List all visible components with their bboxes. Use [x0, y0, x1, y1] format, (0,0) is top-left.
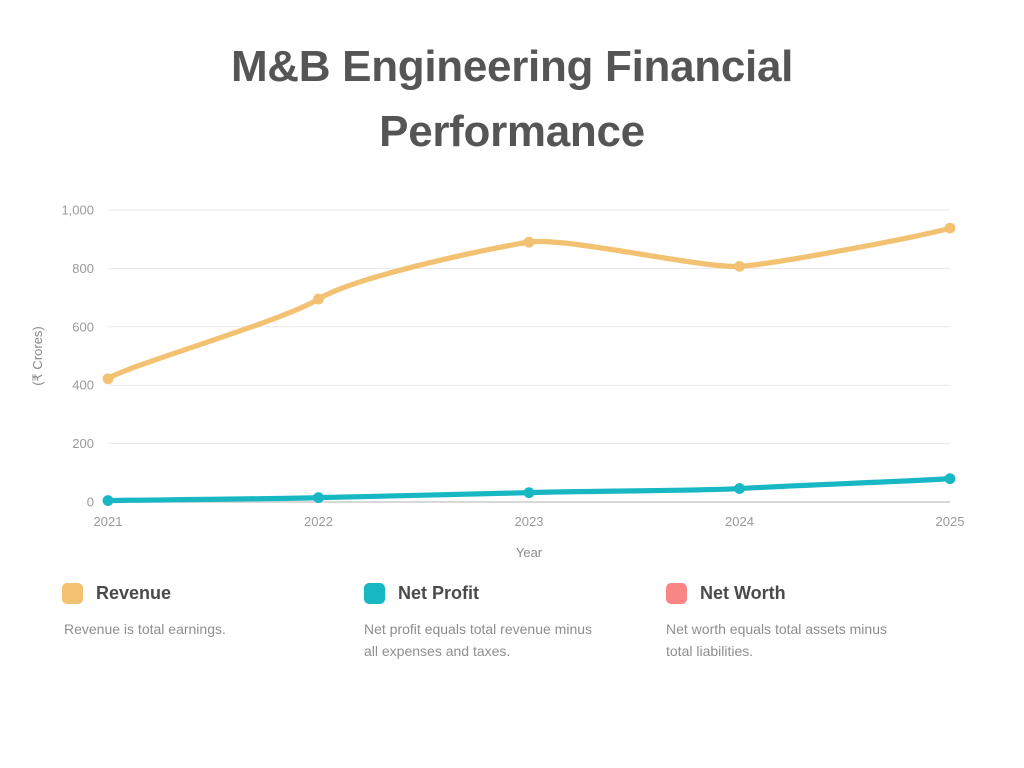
legend-item-header: Net Profit [364, 580, 646, 606]
x-tick-label: 2024 [725, 514, 754, 529]
x-axis-title: Year [516, 545, 543, 560]
x-tick-label: 2023 [515, 514, 544, 529]
y-tick-label: 600 [72, 319, 94, 334]
legend-description-net-profit: Net profit equals total revenue minus al… [364, 619, 596, 662]
legend-swatch-net-worth-icon [666, 583, 687, 604]
legend-description-net-worth: Net worth equals total assets minus tota… [666, 619, 898, 662]
legend-label-revenue: Revenue [96, 583, 171, 604]
legend-item-header: Revenue [62, 580, 344, 606]
data-point-marker[interactable] [734, 483, 745, 494]
series-line [108, 228, 950, 379]
legend-item-header: Net Worth [666, 580, 948, 606]
legend-swatch-net-profit-icon [364, 583, 385, 604]
data-point-marker[interactable] [103, 495, 114, 506]
chart-page: M&B Engineering Financial Performance 02… [0, 0, 1024, 768]
legend-item-revenue[interactable]: Revenue Revenue is total earnings. [62, 580, 364, 690]
x-axis-tick-labels: 20212022202320242025 [94, 514, 965, 529]
data-series-lines [108, 228, 950, 500]
data-point-marker[interactable] [945, 473, 956, 484]
y-tick-label: 200 [72, 436, 94, 451]
chart-legend: Revenue Revenue is total earnings. Net P… [0, 580, 1024, 690]
data-point-marker[interactable] [313, 294, 324, 305]
legend-item-net-profit[interactable]: Net Profit Net profit equals total reven… [364, 580, 666, 690]
y-axis-tick-labels: 02004006008001,000 [61, 203, 94, 510]
data-point-marker[interactable] [734, 261, 745, 272]
y-tick-label: 400 [72, 378, 94, 393]
data-point-marker[interactable] [313, 492, 324, 503]
x-tick-label: 2022 [304, 514, 333, 529]
y-tick-label: 0 [87, 495, 94, 510]
legend-label-net-profit: Net Profit [398, 583, 479, 604]
data-point-marker[interactable] [103, 373, 114, 384]
chart-plot-area: 02004006008001,000 20212022202320242025 … [0, 160, 1024, 560]
data-point-markers [103, 223, 956, 506]
legend-label-net-worth: Net Worth [700, 583, 786, 604]
x-tick-label: 2021 [94, 514, 123, 529]
line-chart-svg: 02004006008001,000 20212022202320242025 … [0, 160, 1024, 560]
legend-swatch-revenue-icon [62, 583, 83, 604]
y-tick-label: 800 [72, 261, 94, 276]
x-tick-label: 2025 [936, 514, 965, 529]
page-title: M&B Engineering Financial Performance [140, 34, 884, 164]
y-tick-label: 1,000 [61, 203, 94, 218]
data-point-marker[interactable] [945, 223, 956, 234]
data-point-marker[interactable] [524, 237, 535, 248]
data-point-marker[interactable] [524, 487, 535, 498]
legend-description-revenue: Revenue is total earnings. [64, 619, 296, 641]
legend-item-net-worth[interactable]: Net Worth Net worth equals total assets … [666, 580, 968, 690]
y-axis-title: (₹ Crores) [30, 326, 45, 386]
